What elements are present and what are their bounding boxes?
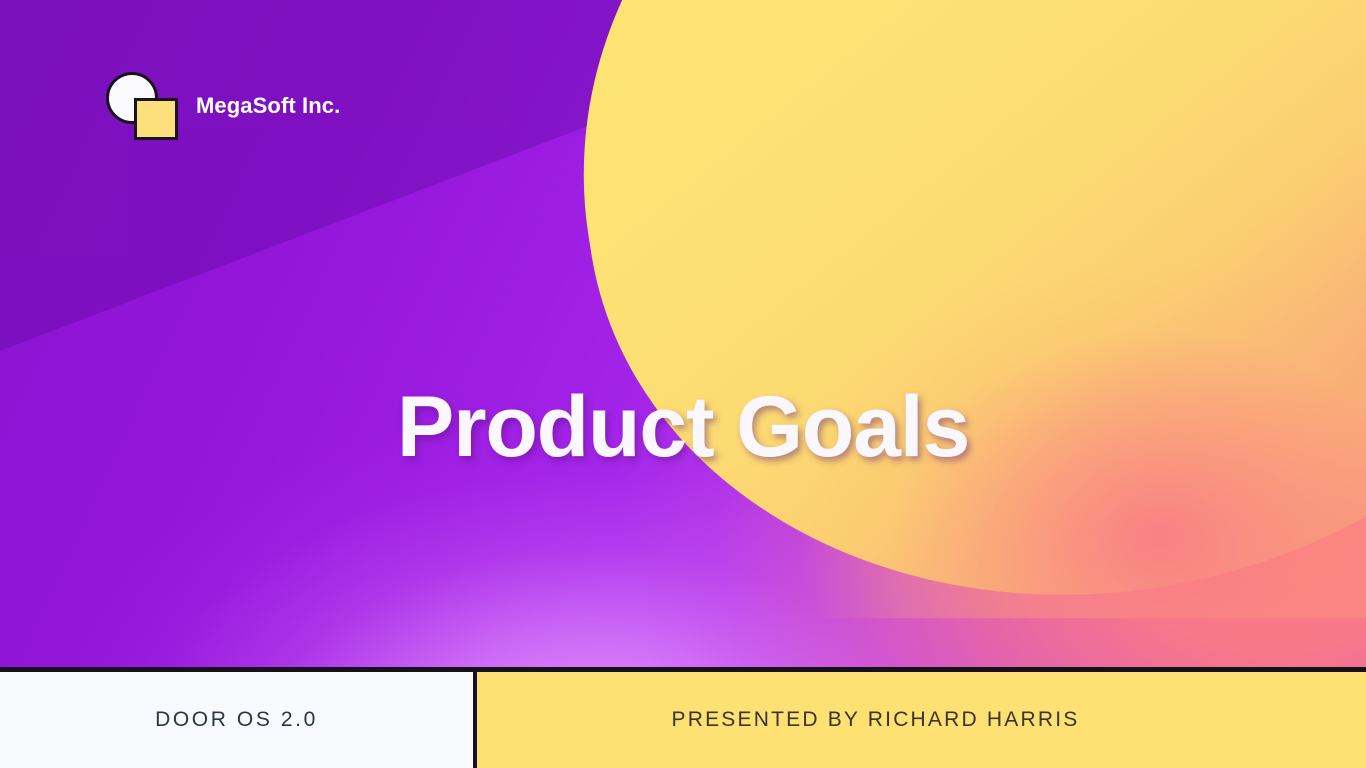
logo-mark [104,72,176,140]
slide-footer: DOOR OS 2.0 PRESENTED BY RICHARD HARRIS [0,672,1366,768]
brand-name: MegaSoft Inc. [196,93,340,119]
square-icon [134,98,178,140]
page-title: Product Goals [397,382,969,472]
footer-left-panel: DOOR OS 2.0 [0,672,473,768]
presentation-slide: MegaSoft Inc. Product Goals DOOR OS 2.0 … [0,0,1366,768]
footer-right-panel: PRESENTED BY RICHARD HARRIS [477,672,1366,768]
footer-presenter-label: PRESENTED BY RICHARD HARRIS [672,708,1080,732]
slide-title-container: Product Goals [0,324,1366,530]
brand-logo: MegaSoft Inc. [104,72,340,140]
footer-product-label: DOOR OS 2.0 [155,708,318,732]
